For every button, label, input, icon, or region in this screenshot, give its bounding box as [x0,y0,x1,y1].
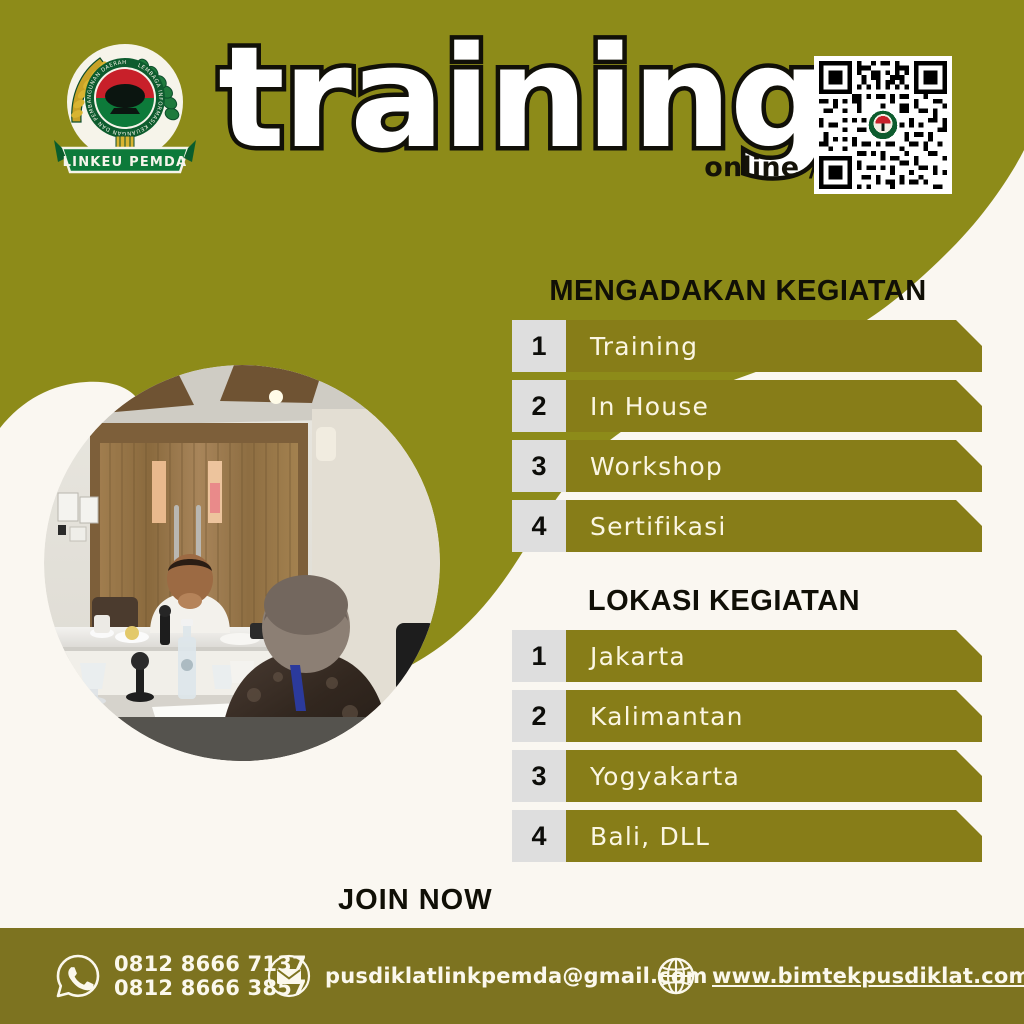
website-url: www.bimtekpusdiklat.com [712,964,1024,988]
list-item-label: Yogyakarta [566,762,740,791]
join-now-cta[interactable]: JOIN NOW [338,884,493,917]
list-item-label: Workshop [566,452,723,481]
list-item-label: Sertifikasi [566,512,727,541]
list-item-number: 3 [512,750,566,802]
list-item-bar: Sertifikasi [566,500,982,552]
footer-website[interactable]: www.bimtekpusdiklat.com [653,953,1024,999]
list-item-bar: Kalimantan [566,690,982,742]
list-item[interactable]: 1 Jakarta [512,630,982,682]
list-item-bar: Workshop [566,440,982,492]
logo-ribbon-text: LINKEU PEMDA [63,155,188,170]
list-item-bar: Bali, DLL [566,810,982,862]
list-item-number: 4 [512,810,566,862]
list-item[interactable]: 3 Workshop [512,440,982,492]
qr-code-matrix [814,56,952,194]
email-address: pusdiklatlinkpemda@gmail.com [325,964,708,988]
photo-meeting-room [44,365,440,761]
poster-canvas: LEMBAGA INFORMASI KEUANGAN DAN PEMBANGUN… [0,0,1024,1024]
section-lokasi-kegiatan: LOKASI KEGIATAN 1 Jakarta 2 Kalimantan 3… [512,585,982,870]
footer-email[interactable]: pusdiklatlinkpemda@gmail.com [266,953,708,999]
globe-icon [653,953,699,999]
whatsapp-icon [55,953,101,999]
list-item[interactable]: 2 Kalimantan [512,690,982,742]
list-item-label: Jakarta [566,642,686,671]
section-heading: LOKASI KEGIATAN [512,585,982,618]
list-item-bar: Yogyakarta [566,750,982,802]
linkeu-pemda-logo: LEMBAGA INFORMASI KEUANGAN DAN PEMBANGUN… [50,36,200,186]
list-item[interactable]: 3 Yogyakarta [512,750,982,802]
list-item-label: Kalimantan [566,702,744,731]
list-item[interactable]: 2 In House [512,380,982,432]
list-item-label: Training [566,332,698,361]
qr-code[interactable] [814,56,952,194]
list-item[interactable]: 4 Sertifikasi [512,500,982,552]
list-item-number: 2 [512,690,566,742]
contact-footer: 0812 8666 7137 0812 8666 3857 pusdiklatl… [0,928,1024,1024]
section-mengadakan-kegiatan: MENGADAKAN KEGIATAN 1 Training 2 In Hous… [512,275,982,560]
list-item-number: 2 [512,380,566,432]
list-item-number: 3 [512,440,566,492]
list-item-number: 4 [512,500,566,552]
list-item[interactable]: 4 Bali, DLL [512,810,982,862]
list-item[interactable]: 1 Training [512,320,982,372]
section-heading: MENGADAKAN KEGIATAN [512,275,982,308]
list-item-bar: Training [566,320,982,372]
list-item-number: 1 [512,630,566,682]
list-item-label: In House [566,392,709,421]
list-item-label: Bali, DLL [566,822,710,851]
list-item-bar: Jakarta [566,630,982,682]
list-item-number: 1 [512,320,566,372]
envelope-icon [266,953,312,999]
list-item-bar: In House [566,380,982,432]
